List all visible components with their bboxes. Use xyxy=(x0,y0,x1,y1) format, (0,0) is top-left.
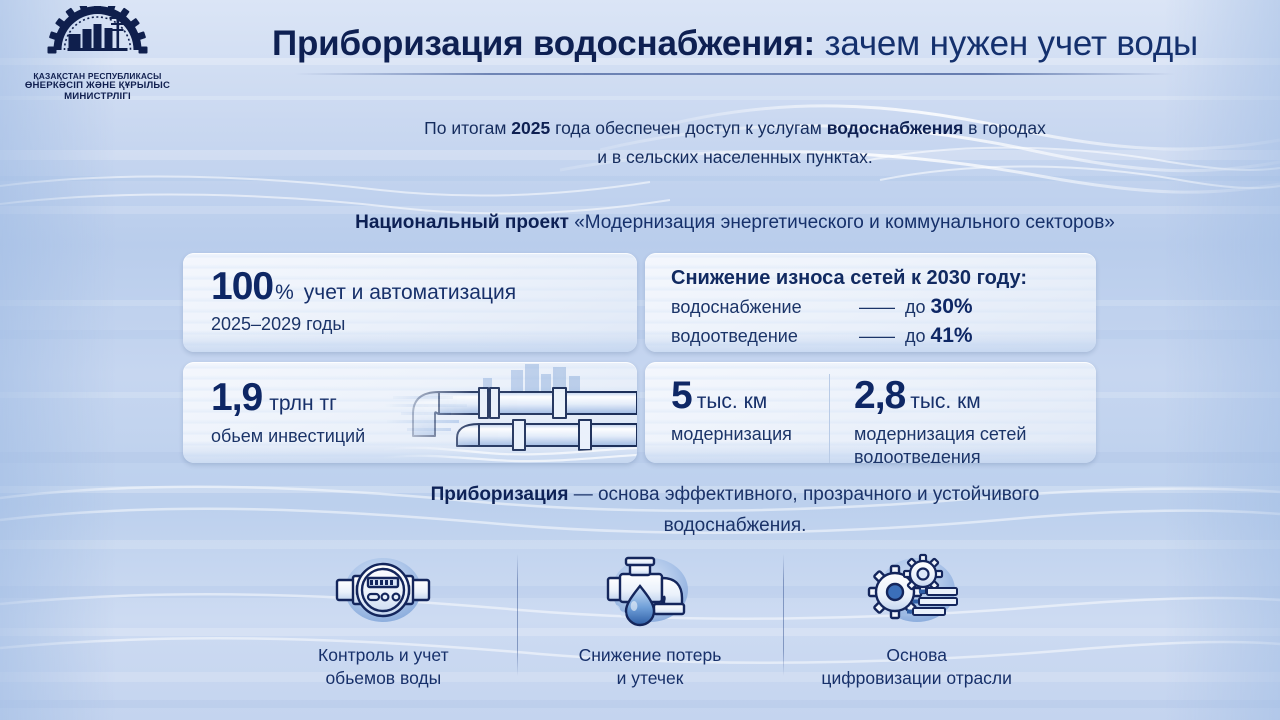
modernization-column-1: 5 тыс. км модернизация xyxy=(645,374,829,463)
title-divider xyxy=(295,73,1175,75)
tagline: Приборизация — основа эффективного, проз… xyxy=(205,480,1265,542)
modernization-col1-text: модернизация xyxy=(671,423,829,446)
modernization-col1-unit: тыс. км xyxy=(697,390,768,414)
feature-digitalization-line1: Основа xyxy=(783,644,1050,667)
modernization-col2-headline: 2,8 тыс. км xyxy=(854,374,1026,418)
card-investment-headline: 1,9 трлн тг xyxy=(211,376,637,420)
subtitle-year: 2025 xyxy=(511,118,550,138)
wear-row-water-supply-value: до 30% xyxy=(905,295,973,319)
tagline-keyword: Приборизация xyxy=(431,484,569,505)
card-automation: 100 % учет и автоматизация 2025–2029 год… xyxy=(183,253,637,352)
tagline-line-2: водоснабжения. xyxy=(205,511,1265,542)
page-title: Приборизация водоснабжения: зачем нужен … xyxy=(205,24,1265,63)
tagline-line-1: Приборизация — основа эффективного, проз… xyxy=(205,480,1265,511)
modernization-col1-value: 5 xyxy=(671,374,692,418)
card-investment-unit: трлн тг xyxy=(269,392,337,416)
feature-digitalization: Основа цифровизации отрасли xyxy=(783,548,1050,708)
gears-data-icon xyxy=(857,548,977,640)
subtitle-keyword: водоснабжения xyxy=(827,118,964,138)
feature-leak-reduction: Снижение потерь и утечек xyxy=(517,548,784,708)
national-project-line: Национальный проект «Модернизация энерге… xyxy=(205,212,1265,234)
card-wear-reduction-heading: Снижение износа сетей к 2030 году: xyxy=(671,267,1096,290)
feature-water-metering-line2: обьемов воды xyxy=(250,667,517,690)
card-automation-headline: 100 % учет и автоматизация xyxy=(211,265,637,309)
feature-leak-reduction-caption: Снижение потерь и утечек xyxy=(517,644,784,691)
feature-leak-reduction-line1: Снижение потерь xyxy=(517,644,784,667)
modernization-col1-headline: 5 тыс. км xyxy=(671,374,829,418)
subtitle: По итогам 2025 года обеспечен доступ к у… xyxy=(205,114,1265,172)
card-automation-unit: % xyxy=(275,281,294,305)
wear-row-drainage-label: водоотведение xyxy=(671,326,849,347)
wear-row-water-supply-prefix: до xyxy=(905,297,931,317)
stat-cards: 100 % учет и автоматизация 2025–2029 год… xyxy=(183,253,1096,463)
modernization-col2-value: 2,8 xyxy=(854,374,905,418)
header: Приборизация водоснабжения: зачем нужен … xyxy=(205,24,1265,75)
subtitle-line-1: По итогам 2025 года обеспечен доступ к у… xyxy=(205,114,1265,143)
ministry-logo: ҚАЗАҚСТАН РЕСПУБЛИКАСЫ ӨНЕРКӘСІП ЖӘНЕ ҚҰ… xyxy=(10,6,185,111)
wear-row-drainage-percent: 41% xyxy=(931,324,973,347)
card-investment: 1,9 трлн тг обьем инвестиций xyxy=(183,362,637,463)
card-modernization-body: 5 тыс. км модернизация 2,8 тыс. км модер… xyxy=(645,362,1096,463)
subtitle-part-1: По итогам xyxy=(424,118,511,138)
feature-water-metering-caption: Контроль и учет обьемов воды xyxy=(250,644,517,691)
feature-digitalization-caption: Основа цифровизации отрасли xyxy=(783,644,1050,691)
national-project-label: Национальный проект xyxy=(355,212,569,233)
modernization-col2-text: модернизация сетей водоотведения xyxy=(854,423,1026,463)
gear-factory-emblem-icon xyxy=(10,6,185,72)
feature-list: Контроль и учет обьемов воды xyxy=(250,548,1050,708)
wear-row-water-supply-percent: 30% xyxy=(931,295,973,318)
national-project-name: «Модернизация энергетического и коммунал… xyxy=(569,212,1115,233)
wear-row-water-supply: водоснабжение —— до 30% xyxy=(671,295,1096,319)
feature-water-metering: Контроль и учет обьемов воды xyxy=(250,548,517,708)
logo-line-3: МИНИСТРЛІГІ xyxy=(10,92,185,103)
feature-digitalization-line2: цифровизации отрасли xyxy=(783,667,1050,690)
feature-leak-reduction-line2: и утечек xyxy=(517,667,784,690)
subtitle-part-2: года обеспечен доступ к услугам xyxy=(550,118,826,138)
leaking-tap-icon xyxy=(590,548,710,640)
card-wear-reduction-body: Снижение износа сетей к 2030 году: водос… xyxy=(645,253,1096,348)
water-meter-icon xyxy=(323,548,443,640)
card-automation-body: 100 % учет и автоматизация 2025–2029 год… xyxy=(183,253,637,335)
modernization-col2-unit: тыс. км xyxy=(910,390,981,414)
wear-row-drainage-dash: —— xyxy=(859,326,895,347)
feature-water-metering-line1: Контроль и учет xyxy=(250,644,517,667)
card-investment-body: 1,9 трлн тг обьем инвестиций xyxy=(183,362,637,447)
card-automation-period: 2025–2029 годы xyxy=(211,314,637,335)
subtitle-part-3: в городах xyxy=(963,118,1046,138)
card-modernization: 5 тыс. км модернизация 2,8 тыс. км модер… xyxy=(645,362,1096,463)
card-investment-text: обьем инвестиций xyxy=(211,426,637,447)
card-automation-value: 100 xyxy=(211,265,273,309)
subtitle-line-2: и в сельских населенных пунктах. xyxy=(205,143,1265,172)
wear-row-water-supply-dash: —— xyxy=(859,297,895,318)
page-title-light: зачем нужен учет воды xyxy=(815,24,1198,63)
page-title-bold: Приборизация водоснабжения: xyxy=(272,24,815,63)
wear-row-water-supply-label: водоснабжение xyxy=(671,297,849,318)
wear-row-drainage: водоотведение —— до 41% xyxy=(671,324,1096,348)
wear-row-drainage-prefix: до xyxy=(905,326,931,346)
modernization-column-2: 2,8 тыс. км модернизация сетей водоотвед… xyxy=(829,374,1026,463)
card-automation-text: учет и автоматизация xyxy=(304,281,516,305)
wear-row-drainage-value: до 41% xyxy=(905,324,973,348)
card-investment-value: 1,9 xyxy=(211,376,262,420)
tagline-rest: — основа эффективного, прозрачного и уст… xyxy=(568,484,1039,505)
card-wear-reduction: Снижение износа сетей к 2030 году: водос… xyxy=(645,253,1096,352)
